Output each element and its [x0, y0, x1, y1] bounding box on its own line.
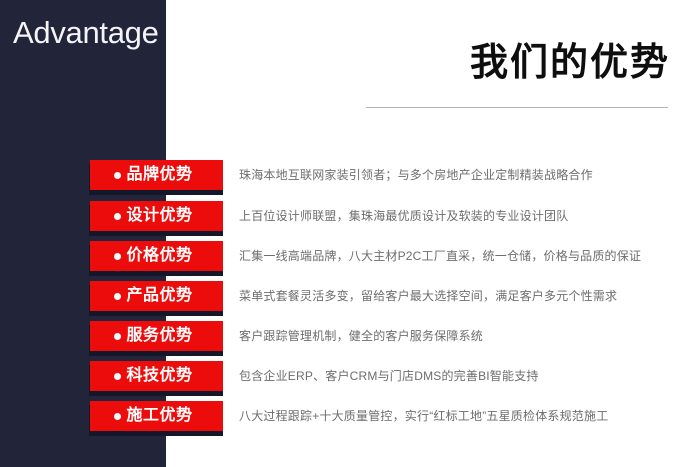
badge-body[interactable]: 品牌优势 — [90, 160, 223, 190]
advantage-description: 客户跟踪管理机制，健全的客户服务保障系统 — [239, 327, 689, 345]
badge-body[interactable]: 价格优势 — [90, 241, 223, 271]
advantage-list: 品牌优势 珠海本地互联网家装引领者；与多个房地产企业定制精装战略合作 设计优势 … — [0, 0, 700, 467]
bullet-icon — [114, 213, 121, 220]
advantage-description: 八大过程跟踪+十大质量管控，实行“红标工地”五星质检体系规范施工 — [239, 407, 689, 425]
badge-body[interactable]: 产品优势 — [90, 281, 223, 311]
list-item: 价格优势 汇集一线高端品牌，八大主材P2C工厂直采，统一仓储，价格与品质的保证 — [0, 241, 700, 281]
badge-body[interactable]: 设计优势 — [90, 201, 223, 231]
advantage-badge[interactable]: 设计优势 — [89, 201, 223, 239]
bullet-icon — [114, 293, 121, 300]
advantage-badge[interactable]: 服务优势 — [89, 321, 223, 359]
badge-body[interactable]: 科技优势 — [90, 361, 223, 391]
advantage-badge[interactable]: 品牌优势 — [89, 160, 223, 198]
advantage-description: 汇集一线高端品牌，八大主材P2C工厂直采，统一仓储，价格与品质的保证 — [239, 247, 689, 265]
list-item: 施工优势 八大过程跟踪+十大质量管控，实行“红标工地”五星质检体系规范施工 — [0, 401, 700, 441]
advantage-badge[interactable]: 产品优势 — [89, 281, 223, 319]
list-item: 设计优势 上百位设计师联盟，集珠海最优质设计及软装的专业设计团队 — [0, 201, 700, 241]
badge-label: 服务优势 — [126, 326, 192, 346]
badge-label: 施工优势 — [126, 406, 192, 426]
bullet-icon — [114, 333, 121, 340]
list-item: 科技优势 包含企业ERP、客户CRM与门店DMS的完善BI智能支持 — [0, 361, 700, 401]
badge-label: 科技优势 — [126, 366, 192, 386]
bullet-icon — [114, 373, 121, 380]
advantage-badge[interactable]: 科技优势 — [89, 361, 223, 399]
advantage-description: 上百位设计师联盟，集珠海最优质设计及软装的专业设计团队 — [239, 207, 689, 225]
badge-label: 价格优势 — [126, 246, 192, 266]
advantage-badge[interactable]: 施工优势 — [89, 401, 223, 439]
badge-body[interactable]: 服务优势 — [90, 321, 223, 351]
bullet-icon — [114, 172, 121, 179]
advantage-description: 包含企业ERP、客户CRM与门店DMS的完善BI智能支持 — [239, 367, 689, 385]
bullet-icon — [114, 253, 121, 260]
badge-label: 设计优势 — [126, 206, 192, 226]
bullet-icon — [114, 413, 121, 420]
badge-label: 品牌优势 — [126, 165, 192, 185]
list-item: 服务优势 客户跟踪管理机制，健全的客户服务保障系统 — [0, 321, 700, 361]
list-item: 产品优势 菜单式套餐灵活多变，留给客户最大选择空间，满足客户多元个性需求 — [0, 281, 700, 321]
advantage-badge[interactable]: 价格优势 — [89, 241, 223, 279]
advantage-description: 珠海本地互联网家装引领者；与多个房地产企业定制精装战略合作 — [239, 166, 689, 184]
list-item: 品牌优势 珠海本地互联网家装引领者；与多个房地产企业定制精装战略合作 — [0, 160, 700, 200]
slide-canvas: Advantage 我们的优势 品牌优势 珠海本地互联网家装引领者；与多个房地产… — [0, 0, 700, 467]
advantage-description: 菜单式套餐灵活多变，留给客户最大选择空间，满足客户多元个性需求 — [239, 287, 689, 305]
badge-body[interactable]: 施工优势 — [90, 401, 223, 431]
badge-label: 产品优势 — [126, 286, 192, 306]
